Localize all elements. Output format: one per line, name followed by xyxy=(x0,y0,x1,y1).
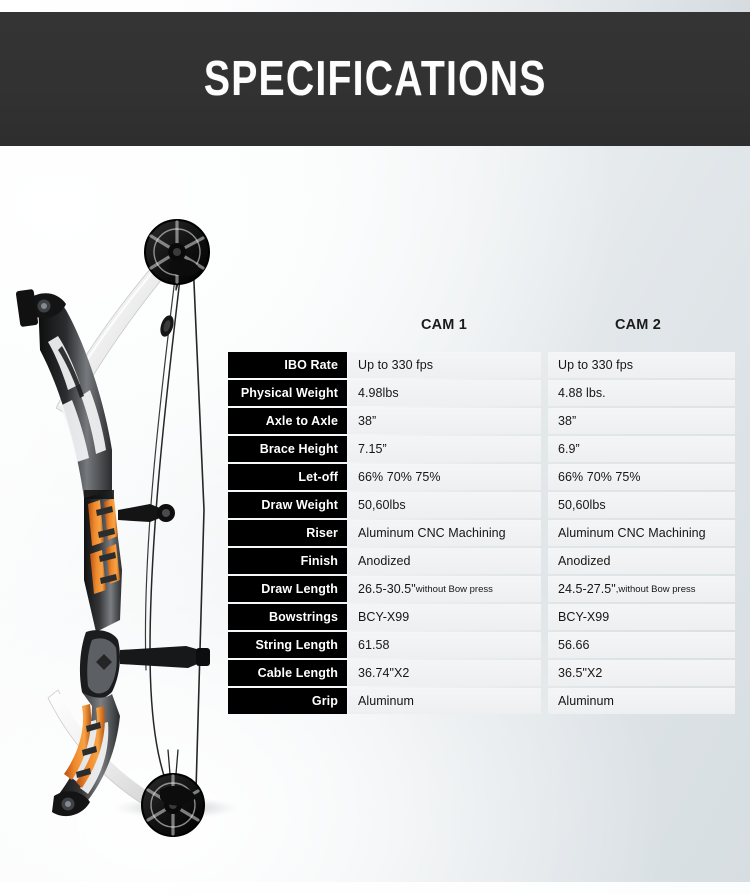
cell-cam2: 24.5-27.5",without Bow press xyxy=(548,576,735,602)
row-label: Axle to Axle xyxy=(228,408,347,434)
row-label: Brace Height xyxy=(228,436,347,462)
cell-cam2: 66% 70% 75% xyxy=(548,464,735,490)
cell-cam2: 6.9” xyxy=(548,436,735,462)
bow-strings xyxy=(145,258,204,798)
cell-cam2-value: 36.5"X2 xyxy=(558,666,602,680)
table-row: String Length61.5856.66 xyxy=(228,632,735,658)
table-body: IBO RateUp to 330 fpsUp to 330 fpsPhysic… xyxy=(228,352,735,714)
cell-cam1: 36.74"X2 xyxy=(348,660,541,686)
cell-cam2: 4.88 lbs. xyxy=(548,380,735,406)
column-divider xyxy=(541,352,548,378)
cell-cam1-value: Aluminum xyxy=(358,694,414,708)
cell-cam1-value: 26.5-30.5" xyxy=(358,582,416,596)
cell-cam1-note: without Bow press xyxy=(416,584,493,595)
column-divider xyxy=(541,660,548,686)
row-label: Cable Length xyxy=(228,660,347,686)
row-label: Let-off xyxy=(228,464,347,490)
row-label: Bowstrings xyxy=(228,604,347,630)
table-row: FinishAnodizedAnodized xyxy=(228,548,735,574)
page-title: SPECIFICATIONS xyxy=(204,55,547,104)
bottom-gradient-strip xyxy=(0,882,750,894)
table-row: Draw Weight50,60lbs50,60lbs xyxy=(228,492,735,518)
cell-cam1: 50,60lbs xyxy=(348,492,541,518)
cell-cam2: 50,60lbs xyxy=(548,492,735,518)
cell-cam1-value: 38” xyxy=(358,414,376,428)
row-label: IBO Rate xyxy=(228,352,347,378)
table-column-headers: CAM 1 CAM 2 xyxy=(228,318,735,348)
cell-cam1: 26.5-30.5"without Bow press xyxy=(348,576,541,602)
page-title-band: SPECIFICATIONS xyxy=(0,12,750,146)
cell-cam1: Up to 330 fps xyxy=(348,352,541,378)
cell-cam1: 7.15” xyxy=(348,436,541,462)
cell-cam2-value: 56.66 xyxy=(558,638,590,652)
cell-cam1-value: 66% 70% 75% xyxy=(358,470,441,484)
cell-cam2-value: 66% 70% 75% xyxy=(558,470,641,484)
column-divider xyxy=(541,688,548,714)
lower-cam xyxy=(142,774,204,836)
cell-cam1: 4.98lbs xyxy=(348,380,541,406)
cell-cam1: Anodized xyxy=(348,548,541,574)
upper-cam xyxy=(145,220,209,284)
row-label: String Length xyxy=(228,632,347,658)
specifications-table: CAM 1 CAM 2 IBO RateUp to 330 fpsUp to 3… xyxy=(228,318,735,716)
cell-cam2-value: Aluminum xyxy=(558,694,614,708)
cell-cam1-value: 50,60lbs xyxy=(358,498,406,512)
cell-cam1: BCY-X99 xyxy=(348,604,541,630)
specifications-page: SPECIFICATIONS xyxy=(0,0,750,894)
row-label: Grip xyxy=(228,688,347,714)
top-gradient-strip xyxy=(0,0,750,12)
column-divider xyxy=(541,436,548,462)
column-divider xyxy=(541,632,548,658)
riser-grip xyxy=(80,630,120,699)
table-row: Axle to Axle38”38” xyxy=(228,408,735,434)
stabilizer-mount xyxy=(120,646,210,668)
column-header-cam1: CAM 1 xyxy=(347,318,541,333)
arrow-rest xyxy=(118,504,175,522)
cell-cam2: 56.66 xyxy=(548,632,735,658)
cell-cam1: Aluminum CNC Machining xyxy=(348,520,541,546)
cell-cam2: Up to 330 fps xyxy=(548,352,735,378)
cell-cam2-value: Aluminum CNC Machining xyxy=(558,526,706,540)
column-divider xyxy=(541,520,548,546)
table-row: Let-off66% 70% 75%66% 70% 75% xyxy=(228,464,735,490)
cell-cam1: 66% 70% 75% xyxy=(348,464,541,490)
column-divider xyxy=(541,492,548,518)
cell-cam1: Aluminum xyxy=(348,688,541,714)
cell-cam1: 61.58 xyxy=(348,632,541,658)
table-row: BowstringsBCY-X99BCY-X99 xyxy=(228,604,735,630)
column-divider xyxy=(541,408,548,434)
cell-cam1: 38” xyxy=(348,408,541,434)
cell-cam2: BCY-X99 xyxy=(548,604,735,630)
row-label: Riser xyxy=(228,520,347,546)
cell-cam2: Aluminum CNC Machining xyxy=(548,520,735,546)
cell-cam1-value: Up to 330 fps xyxy=(358,358,433,372)
cell-cam1-value: 36.74"X2 xyxy=(358,666,409,680)
row-label: Draw Weight xyxy=(228,492,347,518)
row-label: Draw Length xyxy=(228,576,347,602)
cell-cam2-value: 24.5-27.5" xyxy=(558,582,616,596)
table-row: RiserAluminum CNC MachiningAluminum CNC … xyxy=(228,520,735,546)
cell-cam1-value: 7.15” xyxy=(358,442,387,456)
table-row: Cable Length36.74"X236.5"X2 xyxy=(228,660,735,686)
row-label: Finish xyxy=(228,548,347,574)
cell-cam2-value: Up to 330 fps xyxy=(558,358,633,372)
cell-cam2-note: ,without Bow press xyxy=(616,584,696,595)
table-row: GripAluminumAluminum xyxy=(228,688,735,714)
cell-cam2: Anodized xyxy=(548,548,735,574)
table-row: IBO RateUp to 330 fpsUp to 330 fps xyxy=(228,352,735,378)
riser-mid xyxy=(84,490,122,632)
column-divider xyxy=(541,576,548,602)
cell-cam2: 38” xyxy=(548,408,735,434)
riser-upper xyxy=(16,289,112,498)
row-label: Physical Weight xyxy=(228,380,347,406)
column-divider xyxy=(541,380,548,406)
cell-cam2-value: 38” xyxy=(558,414,576,428)
cell-cam2-value: 50,60lbs xyxy=(558,498,606,512)
cell-cam2-value: Anodized xyxy=(558,554,611,568)
column-divider xyxy=(541,464,548,490)
column-divider xyxy=(541,604,548,630)
column-divider xyxy=(541,548,548,574)
cell-cam1-value: Anodized xyxy=(358,554,411,568)
table-row: Brace Height7.15”6.9” xyxy=(228,436,735,462)
cell-cam2-value: BCY-X99 xyxy=(558,610,609,624)
cell-cam1-value: 61.58 xyxy=(358,638,390,652)
cell-cam1-value: 4.98lbs xyxy=(358,386,399,400)
table-row: Draw Length26.5-30.5"without Bow press24… xyxy=(228,576,735,602)
cell-cam1-value: Aluminum CNC Machining xyxy=(358,526,506,540)
cell-cam1-value: BCY-X99 xyxy=(358,610,409,624)
cell-cam2-value: 4.88 lbs. xyxy=(558,386,606,400)
cell-cam2-value: 6.9” xyxy=(558,442,580,456)
cell-cam2: Aluminum xyxy=(548,688,735,714)
cell-cam2: 36.5"X2 xyxy=(548,660,735,686)
table-row: Physical Weight4.98lbs4.88 lbs. xyxy=(228,380,735,406)
column-header-cam2: CAM 2 xyxy=(541,318,735,333)
